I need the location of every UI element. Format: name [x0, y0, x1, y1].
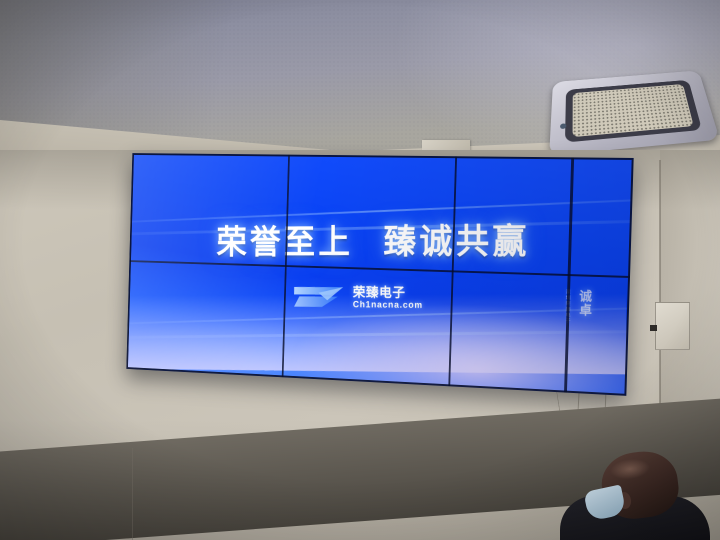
video-wall-outer-frame — [126, 153, 633, 396]
wall-control-panel[interactable] — [655, 302, 690, 350]
wall-seam — [132, 448, 133, 540]
lcd-video-wall[interactable]: 荣誉至上臻诚共赢 荣臻电子 Ch1nacna. — [126, 153, 633, 396]
person-hair-highlight — [609, 457, 651, 482]
wall-panel-slot — [650, 325, 657, 331]
seated-person — [556, 452, 720, 540]
room-scene: 荣誉至上臻诚共赢 荣臻电子 Ch1nacna. — [0, 0, 720, 540]
